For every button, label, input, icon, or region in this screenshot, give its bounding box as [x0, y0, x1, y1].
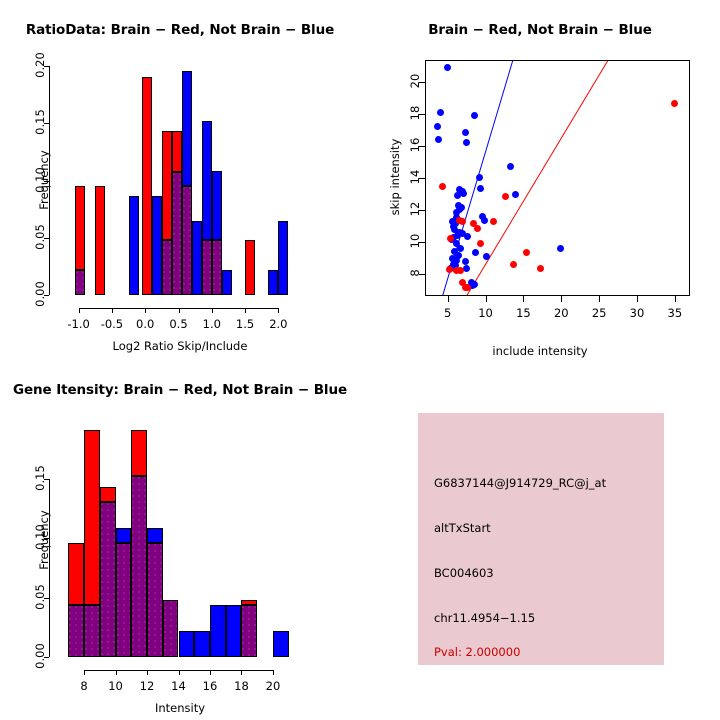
scatter-point	[456, 229, 463, 236]
ratio-histogram-x-tick	[278, 308, 279, 313]
histogram-bar	[131, 476, 147, 657]
histogram-bar	[192, 221, 202, 295]
histogram-bar	[268, 270, 278, 295]
gene-histogram-x-tick-label: 20	[251, 679, 295, 693]
ratio-histogram-x-tick-label: 2.0	[256, 317, 300, 331]
scatter-point	[437, 109, 444, 116]
scatter-point	[460, 190, 467, 197]
scatter-point	[471, 281, 478, 288]
scatter-point	[435, 136, 442, 143]
ratio-histogram-x-tick-label: 1.5	[223, 317, 267, 331]
scatter-point	[471, 112, 478, 119]
gene-histogram-y-axis-label: Frequency	[37, 480, 51, 600]
scatter-title: Brain − Red, Not Brain − Blue	[360, 22, 720, 38]
histogram-bar	[212, 171, 222, 241]
gene-histogram-y-tick	[44, 479, 49, 480]
scatter-point	[456, 217, 463, 224]
scatter-point	[490, 218, 497, 225]
ratio-histogram-y-tick-label: 0.15	[33, 100, 47, 144]
ratio-histogram-x-tick-label: 0.0	[123, 317, 167, 331]
ratio-histogram-x-tick	[212, 308, 213, 313]
scatter-point	[450, 261, 457, 268]
histogram-bar	[142, 77, 152, 295]
histogram-bar	[152, 196, 162, 295]
gene-histogram-y-tick	[44, 538, 49, 539]
scatter-point	[523, 249, 530, 256]
scatter-point	[507, 163, 514, 170]
scatter-point	[463, 139, 470, 146]
scatter-point	[439, 183, 446, 190]
scatter-point	[483, 253, 490, 260]
scatter-y-tick-label: 8	[408, 253, 422, 293]
scatter-point	[444, 64, 451, 71]
histogram-bar	[241, 600, 257, 605]
histogram-bar	[222, 270, 232, 295]
scatter-y-tick	[419, 210, 425, 211]
scatter-y-tick	[419, 82, 425, 83]
scatter-point	[459, 230, 466, 237]
scatter-point	[453, 209, 460, 216]
scatter-point	[477, 240, 484, 247]
ratio-histogram-x-tick-label: 1.0	[190, 317, 234, 331]
scatter-point	[459, 279, 466, 286]
scatter-point	[469, 282, 476, 289]
gene-histogram-x-axis-line	[84, 670, 273, 671]
gene-histogram-x-tick-label: 16	[188, 679, 232, 693]
scatter-x-tick	[448, 296, 449, 302]
scatter-point	[479, 213, 486, 220]
ratio-histogram-x-tick	[79, 308, 80, 313]
scatter-point	[455, 202, 462, 209]
scatter-point	[463, 265, 470, 272]
histogram-bar	[241, 605, 257, 657]
scatter-point	[481, 217, 488, 224]
ratio-histogram-y-tick-label: 0.10	[33, 158, 47, 202]
gene-histogram-x-tick	[147, 670, 148, 675]
gene-histogram-x-tick	[273, 670, 274, 675]
gene-histogram-x-tick	[210, 670, 211, 675]
scatter-point	[510, 261, 517, 268]
scatter-point	[456, 206, 463, 213]
scatter-point	[456, 186, 463, 193]
ratio-histogram-x-axis-line	[79, 308, 279, 309]
scatter-point	[452, 220, 459, 227]
ratio-histogram-y-tick	[44, 295, 49, 296]
ratio-histogram-x-tick	[112, 308, 113, 313]
gene-histogram-x-axis-label: Intensity	[0, 701, 360, 715]
scatter-point	[470, 220, 477, 227]
scatter-point	[502, 193, 509, 200]
scatter-plot-box	[425, 60, 690, 296]
scatter-point	[434, 123, 441, 130]
gene-histogram-y-tick	[44, 598, 49, 599]
probe-id-text: G6837144@J914729_RC@j_at	[434, 476, 606, 490]
gene-histogram-title: Gene Itensity: Brain − Red, Not Brain − …	[0, 382, 360, 398]
scatter-x-tick-label: 30	[615, 306, 659, 320]
gene-histogram-x-tick	[241, 670, 242, 675]
histogram-bar	[226, 605, 242, 657]
histogram-bar	[75, 270, 85, 295]
scatter-point	[454, 232, 461, 239]
scatter-point	[449, 218, 456, 225]
scatter-point	[459, 218, 466, 225]
gene-histogram-y-axis-line	[49, 479, 50, 657]
scatter-x-tick-label: 5	[426, 306, 470, 320]
scatter-fit-line	[442, 61, 513, 295]
histogram-bar	[162, 240, 172, 295]
histogram-bar	[84, 605, 100, 657]
scatter-x-tick	[637, 296, 638, 302]
event-type-text: altTxStart	[434, 521, 491, 535]
scatter-x-tick-label: 15	[501, 306, 545, 320]
ratio-histogram-y-tick	[44, 123, 49, 124]
scatter-point	[451, 226, 458, 233]
scatter-x-tick-label: 35	[653, 306, 697, 320]
scatter-x-tick	[599, 296, 600, 302]
scatter-point	[474, 225, 481, 232]
histogram-bar	[212, 240, 222, 295]
histogram-bar	[129, 196, 139, 295]
scatter-y-tick-label: 14	[408, 157, 422, 197]
histogram-bar	[100, 487, 116, 502]
scatter-y-tick	[419, 146, 425, 147]
scatter-y-axis-label: skip intensity	[388, 117, 402, 237]
histogram-bar	[147, 528, 163, 543]
scatter-point	[447, 235, 454, 242]
scatter-y-tick-label: 10	[408, 221, 422, 261]
ratio-histogram-y-tick	[44, 238, 49, 239]
scatter-point	[458, 204, 465, 211]
ratio-histogram-y-tick-label: 0.05	[33, 215, 47, 259]
pval-text: Pval: 2.000000	[434, 645, 520, 659]
gene-histogram-y-tick-label: 0.05	[33, 575, 47, 619]
scatter-y-tick	[419, 114, 425, 115]
scatter-point	[453, 267, 460, 274]
ratio-histogram-x-axis-label: Log2 Ratio Skip/Include	[0, 339, 360, 353]
scatter-point	[464, 284, 471, 291]
histogram-bar	[95, 186, 105, 295]
scatter-point	[453, 240, 460, 247]
histogram-bar	[84, 430, 100, 605]
scatter-point	[450, 223, 457, 230]
histogram-bar	[75, 186, 85, 271]
ratio-histogram-y-axis-label: Frequency	[37, 120, 51, 240]
scatter-point	[457, 245, 464, 252]
scatter-point	[459, 188, 466, 195]
scatter-point	[448, 236, 455, 243]
scatter-y-tick-label: 20	[408, 61, 422, 101]
scatter-point	[462, 284, 469, 291]
scatter-point	[450, 234, 457, 241]
histogram-bar	[131, 430, 147, 476]
scatter-fit-line	[466, 61, 608, 295]
histogram-bar	[162, 131, 172, 240]
scatter-point	[464, 233, 471, 240]
ratio-histogram-x-tick	[179, 308, 180, 313]
scatter-point	[472, 249, 479, 256]
info-panel: G6837144@J914729_RC@j_ataltTxStartBC0046…	[418, 413, 664, 665]
gene-histogram-y-tick-label: 0.10	[33, 515, 47, 559]
histogram-bar	[194, 631, 210, 657]
ratio-histogram-y-tick	[44, 181, 49, 182]
scatter-point	[455, 252, 462, 259]
histogram-bar	[182, 71, 192, 186]
histogram-bar	[245, 240, 255, 295]
scatter-x-tick	[561, 296, 562, 302]
scatter-x-tick	[675, 296, 676, 302]
scatter-point	[453, 257, 460, 264]
scatter-point	[512, 191, 519, 198]
scatter-point	[477, 185, 484, 192]
histogram-bar	[278, 221, 288, 295]
scatter-point	[557, 245, 564, 252]
gene-histogram-x-tick-label: 18	[219, 679, 263, 693]
scatter-y-tick-label: 16	[408, 125, 422, 165]
scatter-x-tick-label: 20	[539, 306, 583, 320]
histogram-bar	[210, 605, 226, 657]
histogram-bar	[202, 240, 212, 295]
scatter-point	[462, 258, 469, 265]
scatter-point	[449, 255, 456, 262]
ratio-histogram-x-tick-label: -0.5	[90, 317, 134, 331]
ratio-histogram-x-tick	[145, 308, 146, 313]
gene-histogram-x-tick-label: 8	[62, 679, 106, 693]
ratio-histogram-y-tick-label: 0.20	[33, 43, 47, 87]
gene-histogram-x-tick	[179, 670, 180, 675]
gene-histogram-x-tick	[84, 670, 85, 675]
scatter-x-tick-label: 10	[464, 306, 508, 320]
ratio-histogram-x-tick-label: 0.5	[157, 317, 201, 331]
scatter-point	[468, 279, 475, 286]
histogram-bar	[163, 600, 179, 657]
scatter-x-tick-label: 25	[577, 306, 621, 320]
scatter-point	[452, 262, 459, 269]
accession-text: BC004603	[434, 566, 494, 580]
gene-histogram-x-tick-label: 14	[157, 679, 201, 693]
scatter-point	[451, 248, 458, 255]
gene-histogram-y-tick-label: 0.00	[33, 634, 47, 678]
histogram-bar	[172, 172, 182, 295]
locus-text: chr11.4954−1.15	[434, 611, 535, 625]
histogram-bar	[273, 631, 289, 657]
scatter-y-tick	[419, 178, 425, 179]
histogram-bar	[172, 131, 182, 172]
scatter-y-tick	[419, 242, 425, 243]
gene-histogram-y-tick	[44, 657, 49, 658]
scatter-point	[446, 266, 453, 273]
gene-histogram-x-tick-label: 10	[94, 679, 138, 693]
scatter-x-axis-label: include intensity	[360, 344, 720, 358]
histogram-bar	[202, 121, 212, 240]
r-graphics-canvas: RatioData: Brain − Red, Not Brain − Blue…	[0, 0, 720, 720]
scatter-point	[462, 129, 469, 136]
histogram-bar	[68, 543, 84, 605]
scatter-point	[476, 174, 483, 181]
scatter-y-tick-label: 12	[408, 189, 422, 229]
gene-histogram-x-tick	[116, 670, 117, 675]
histogram-bar	[100, 502, 116, 657]
scatter-point	[454, 192, 461, 199]
histogram-bar	[182, 186, 192, 295]
scatter-point	[453, 214, 460, 221]
gene-histogram-x-tick-label: 12	[125, 679, 169, 693]
scatter-point	[457, 267, 464, 274]
histogram-bar	[179, 631, 195, 657]
scatter-data-area	[426, 61, 689, 295]
scatter-y-tick-label: 18	[408, 93, 422, 133]
gene-histogram-y-tick-label: 0.15	[33, 456, 47, 500]
scatter-x-tick	[486, 296, 487, 302]
ratio-histogram-x-tick-label: -1.0	[57, 317, 101, 331]
scatter-point	[537, 265, 544, 272]
ratio-histogram-x-tick	[245, 308, 246, 313]
ratio-histogram-y-axis-line	[49, 66, 50, 295]
histogram-bar	[147, 543, 163, 657]
scatter-point	[671, 100, 678, 107]
histogram-bar	[116, 543, 132, 657]
scatter-x-tick	[523, 296, 524, 302]
histogram-bar	[68, 605, 84, 657]
ratio-histogram-title: RatioData: Brain − Red, Not Brain − Blue	[0, 22, 360, 38]
ratio-histogram-y-tick	[44, 66, 49, 67]
ratio-histogram-y-tick-label: 0.00	[33, 272, 47, 316]
histogram-bar	[116, 528, 132, 543]
scatter-point	[447, 265, 454, 272]
scatter-y-tick	[419, 274, 425, 275]
